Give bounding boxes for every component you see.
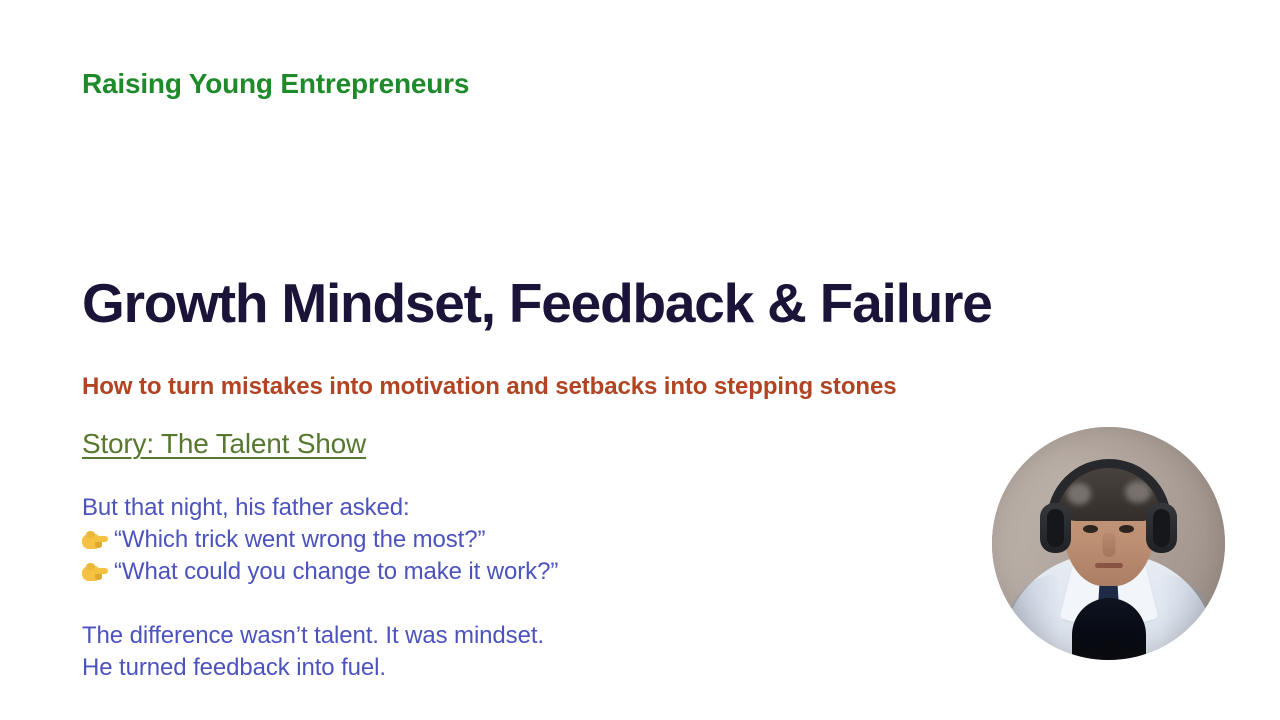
headphones-earcup-left <box>1040 503 1071 553</box>
presenter-video-frame <box>992 427 1225 660</box>
pointing-right-hand-icon <box>82 531 108 551</box>
story-line: The difference wasn’t talent. It was min… <box>82 620 544 652</box>
story-line-text: He turned feedback into fuel. <box>82 654 386 681</box>
story-line-text: “Which trick went wrong the most?” <box>114 526 485 553</box>
story-section-heading: Story: The Talent Show <box>82 428 366 460</box>
story-paragraph-two: The difference wasn’t talent. It was min… <box>82 620 544 684</box>
presenter-mouth <box>1095 563 1123 568</box>
story-line-text: The difference wasn’t talent. It was min… <box>82 622 544 649</box>
story-line-text: But that night, his father asked: <box>82 494 410 521</box>
story-paragraph-one: But that night, his father asked: “Which… <box>82 492 558 588</box>
story-line-text: “What could you change to make it work?” <box>114 558 558 585</box>
presenter-nose <box>1102 533 1115 557</box>
slide-subtitle: How to turn mistakes into motivation and… <box>82 373 896 401</box>
story-line: “Which trick went wrong the most?” <box>82 524 558 556</box>
story-line: He turned feedback into fuel. <box>82 652 544 684</box>
pointing-right-hand-icon <box>82 563 108 583</box>
series-kicker: Raising Young Entrepreneurs <box>82 68 469 100</box>
story-line: “What could you change to make it work?” <box>82 556 558 588</box>
story-line: But that night, his father asked: <box>82 492 558 524</box>
presenter-video-circle[interactable] <box>992 427 1225 660</box>
headphones-earcup-right <box>1146 503 1177 553</box>
slide-title: Growth Mindset, Feedback & Failure <box>82 274 992 333</box>
presentation-slide: Raising Young Entrepreneurs Growth Minds… <box>0 0 1280 720</box>
